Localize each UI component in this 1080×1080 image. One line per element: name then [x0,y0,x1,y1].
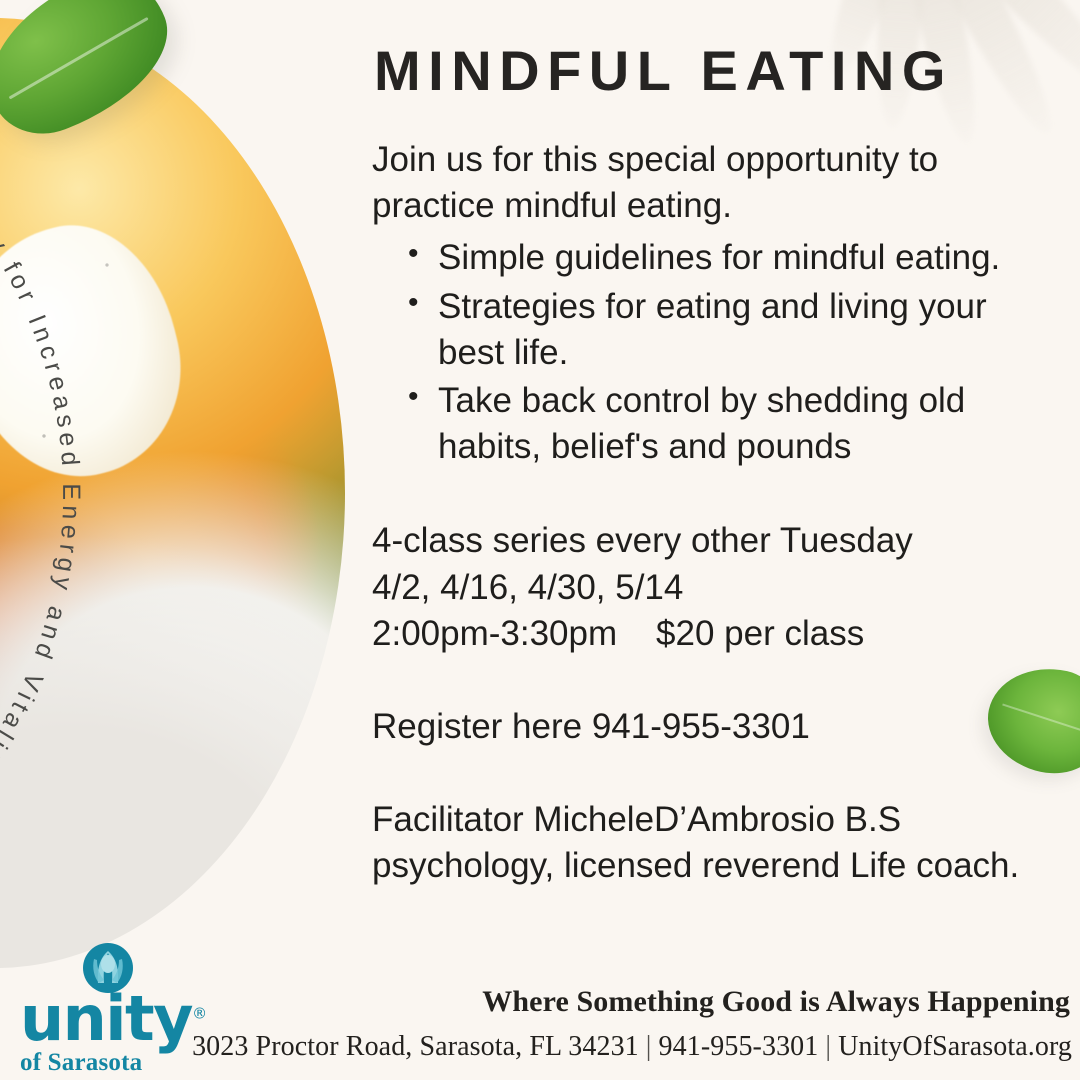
curved-tagline: Eating Healthy for Increased Energy and … [0,30,370,960]
list-item: Strategies for eating and living your be… [408,284,1062,376]
footer-contact: 3023 Proctor Road, Sarasota, FL 34231|94… [0,1031,1072,1063]
page-title: MINDFUL EATING [374,38,1062,103]
facilitator-line-2: psychology, licensed reverend Life coach… [372,843,1062,890]
intro-paragraph: Join us for this special opportunity to … [372,137,1062,229]
schedule-series: 4-class series every other Tuesday [372,518,1062,565]
basil-leaf-icon [0,0,189,150]
schedule-block: 4-class series every other Tuesday 4/2, … [372,518,1062,658]
register-line[interactable]: Register here 941-955-3301 [372,704,1062,751]
footer-separator-2: | [818,1031,838,1062]
facilitator-line-1: Facilitator MicheleD’Ambrosio B.S [372,797,1062,844]
curved-tagline-text: Eating Healthy for Increased Energy and … [0,80,85,784]
footer-tagline: Where Something Good is Always Happening [0,985,1070,1019]
footer-phone[interactable]: 941-955-3301 [659,1031,819,1062]
flyer-canvas: Eating Healthy for Increased Energy and … [0,0,1080,1080]
poached-egg-detail [0,205,204,498]
footer-website[interactable]: UnityOfSarasota.org [838,1031,1072,1062]
footer-address: 3023 Proctor Road, Sarasota, FL 34231 [192,1031,639,1062]
salad-plate-photo [0,18,345,968]
footer-separator-1: | [639,1031,659,1062]
main-content: MINDFUL EATING Join us for this special … [372,38,1062,890]
list-item: Simple guidelines for mindful eating. [408,235,1062,281]
list-item: Take back control by shedding old habits… [408,378,1062,470]
benefits-list: Simple guidelines for mindful eating. St… [372,235,1062,470]
schedule-dates: 4/2, 4/16, 4/30, 5/14 [372,565,1062,612]
facilitator-block: Facilitator MicheleD’Ambrosio B.S psycho… [372,797,1062,890]
schedule-time-price: 2:00pm-3:30pm $20 per class [372,611,1062,658]
